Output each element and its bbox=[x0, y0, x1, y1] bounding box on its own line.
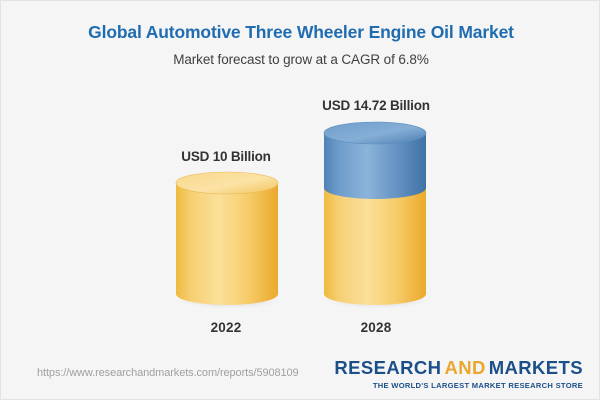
bar-value-label-2028: USD 14.72 Billion bbox=[266, 98, 486, 113]
research-and-markets-logo[interactable]: RESEARCHANDMARKETS THE WORLD'S LARGEST M… bbox=[334, 359, 583, 390]
bar-body-2022 bbox=[176, 183, 278, 305]
logo-wordmark: RESEARCHANDMARKETS bbox=[334, 359, 583, 378]
bar-segment-base-2028 bbox=[324, 188, 426, 305]
bar-2022 bbox=[174, 171, 280, 311]
bar-top-cap-2028 bbox=[324, 122, 426, 144]
report-url-link[interactable]: https://www.researchandmarkets.com/repor… bbox=[37, 367, 299, 379]
chart-plot-area: USD 10 Billion bbox=[1, 1, 600, 351]
bar-top-cap-2022 bbox=[176, 172, 278, 194]
logo-word-research: RESEARCH bbox=[334, 357, 441, 378]
logo-word-and: AND bbox=[444, 357, 485, 378]
bar-2028 bbox=[322, 120, 430, 311]
chart-card: Global Automotive Three Wheeler Engine O… bbox=[0, 0, 600, 400]
axis-tick-label-2028: 2028 bbox=[266, 320, 486, 335]
logo-word-markets: MARKETS bbox=[489, 357, 583, 378]
chart-footer: https://www.researchandmarkets.com/repor… bbox=[1, 351, 600, 400]
bar-value-label-2022: USD 10 Billion bbox=[116, 149, 336, 164]
logo-tagline: THE WORLD'S LARGEST MARKET RESEARCH STOR… bbox=[334, 381, 583, 390]
